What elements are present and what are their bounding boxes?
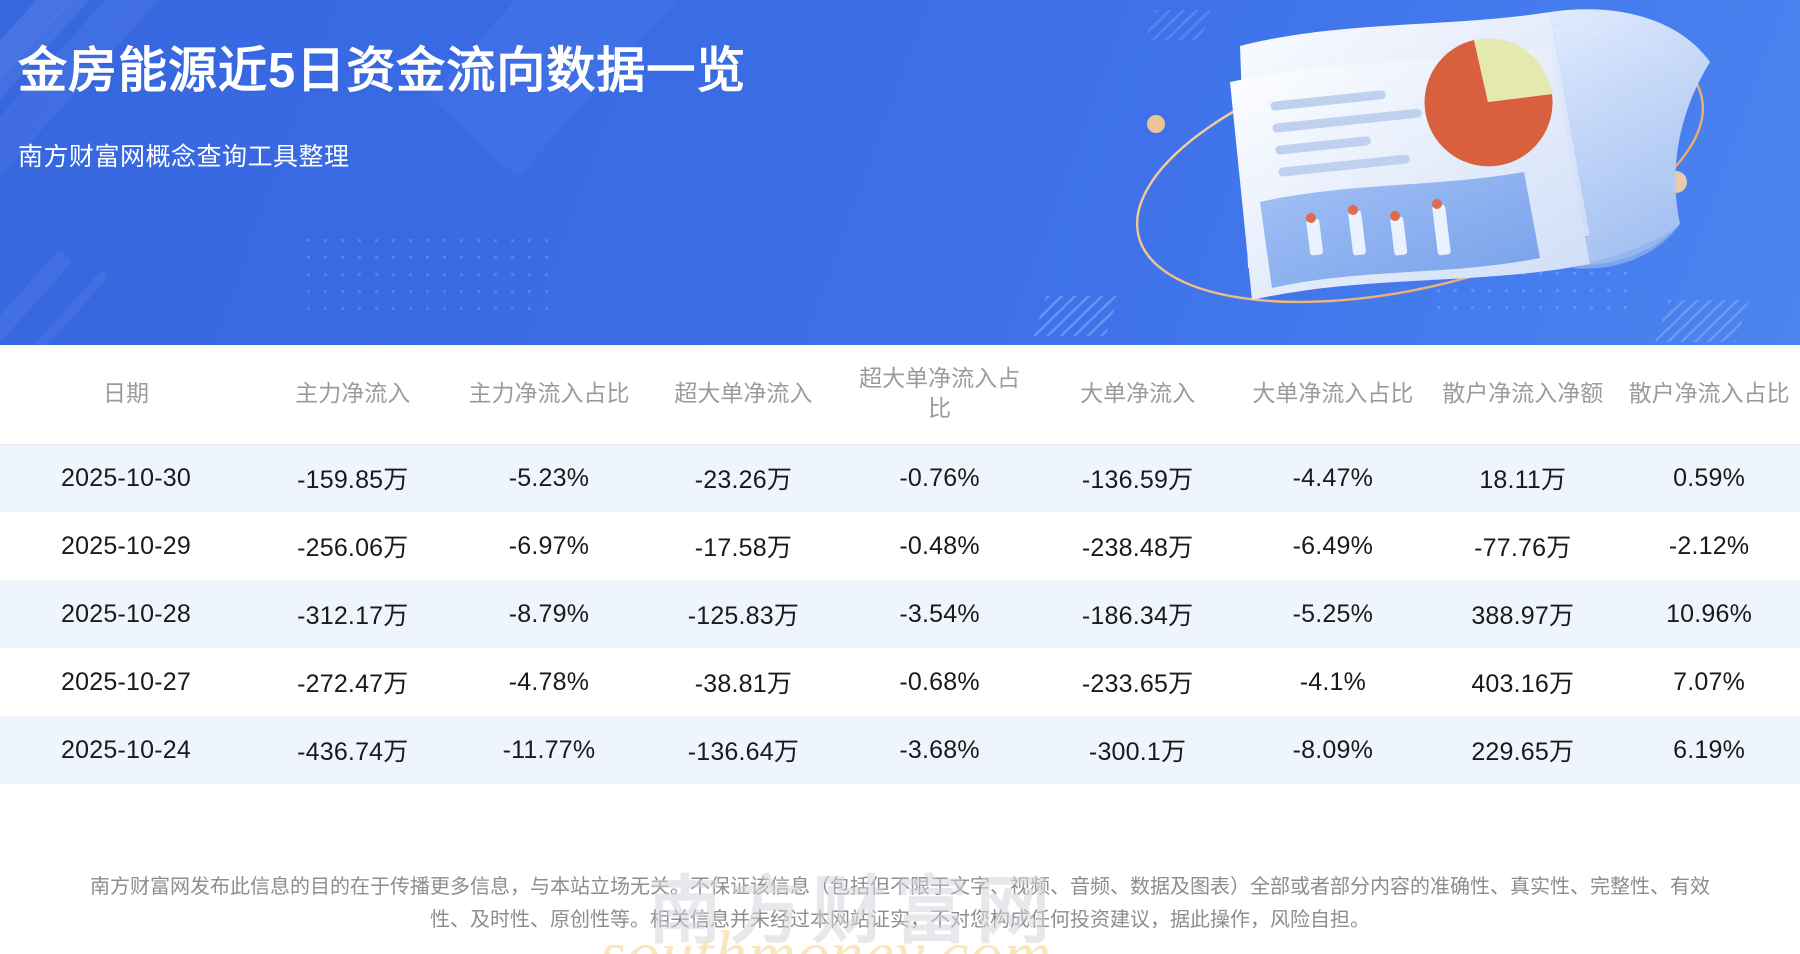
- cell-date: 2025-10-29: [0, 512, 252, 580]
- cell-retail-net-amount: 403.16万: [1427, 648, 1618, 716]
- cell-xl-net-ratio: -3.68%: [842, 716, 1036, 784]
- fund-flow-table-wrap: 南方财富网 southmoney.com 日期 主力净流入 主力净流入占比 超大…: [0, 345, 1800, 784]
- column-header-xl-net-inflow: 超大单净流入: [644, 345, 842, 444]
- cell-lg-net-inflow: -186.34万: [1037, 580, 1239, 648]
- table-header-row: 日期 主力净流入 主力净流入占比 超大单净流入 超大单净流入占比 大单净流入 大…: [0, 345, 1800, 444]
- cell-lg-net-inflow: -136.59万: [1037, 444, 1239, 512]
- cell-retail-net-amount: 388.97万: [1427, 580, 1618, 648]
- cell-xl-net-inflow: -23.26万: [644, 444, 842, 512]
- cell-xl-net-ratio: -0.76%: [842, 444, 1036, 512]
- cell-xl-net-ratio: -0.68%: [842, 648, 1036, 716]
- cell-lg-net-inflow: -300.1万: [1037, 716, 1239, 784]
- cell-retail-net-ratio: 0.59%: [1618, 444, 1800, 512]
- cell-main-net-inflow: -272.47万: [252, 648, 454, 716]
- column-header-retail-net-amount: 散户净流入净额: [1427, 345, 1618, 444]
- cell-xl-net-inflow: -17.58万: [644, 512, 842, 580]
- banner-text-block: 金房能源近5日资金流向数据一览 南方财富网概念查询工具整理: [18, 44, 746, 173]
- table-row: 2025-10-30 -159.85万 -5.23% -23.26万 -0.76…: [0, 444, 1800, 512]
- cell-main-net-ratio: -8.79%: [454, 580, 645, 648]
- cell-lg-net-ratio: -4.47%: [1238, 444, 1427, 512]
- cell-retail-net-ratio: 6.19%: [1618, 716, 1800, 784]
- fund-flow-table: 日期 主力净流入 主力净流入占比 超大单净流入 超大单净流入占比 大单净流入 大…: [0, 345, 1800, 784]
- column-header-date: 日期: [0, 345, 252, 444]
- cell-lg-net-ratio: -4.1%: [1238, 648, 1427, 716]
- report-chart-illustration: [1120, 6, 1740, 336]
- cell-date: 2025-10-24: [0, 716, 252, 784]
- cell-main-net-inflow: -256.06万: [252, 512, 454, 580]
- cell-lg-net-inflow: -233.65万: [1037, 648, 1239, 716]
- table-row: 2025-10-27 -272.47万 -4.78% -38.81万 -0.68…: [0, 648, 1800, 716]
- cell-date: 2025-10-28: [0, 580, 252, 648]
- cell-retail-net-ratio: 7.07%: [1618, 648, 1800, 716]
- table-header: 日期 主力净流入 主力净流入占比 超大单净流入 超大单净流入占比 大单净流入 大…: [0, 345, 1800, 444]
- table-row: 2025-10-24 -436.74万 -11.77% -136.64万 -3.…: [0, 716, 1800, 784]
- table-row: 2025-10-29 -256.06万 -6.97% -17.58万 -0.48…: [0, 512, 1800, 580]
- cell-main-net-inflow: -436.74万: [252, 716, 454, 784]
- cell-lg-net-ratio: -5.25%: [1238, 580, 1427, 648]
- cell-main-net-ratio: -11.77%: [454, 716, 645, 784]
- cell-retail-net-ratio: -2.12%: [1618, 512, 1800, 580]
- disclaimer-line-1: 南方财富网发布此信息的目的在于传播更多信息，与本站立场无关。不保证该信息（包括但…: [8, 871, 1792, 903]
- cell-retail-net-amount: -77.76万: [1427, 512, 1618, 580]
- cell-date: 2025-10-30: [0, 444, 252, 512]
- cell-main-net-inflow: -159.85万: [252, 444, 454, 512]
- page-title: 金房能源近5日资金流向数据一览: [18, 44, 746, 99]
- banner-hatch-decoration: [1034, 296, 1119, 336]
- cell-xl-net-inflow: -38.81万: [644, 648, 842, 716]
- cell-retail-net-ratio: 10.96%: [1618, 580, 1800, 648]
- cell-lg-net-ratio: -8.09%: [1238, 716, 1427, 784]
- cell-main-net-ratio: -4.78%: [454, 648, 645, 716]
- cell-retail-net-amount: 229.65万: [1427, 716, 1618, 784]
- table-row: 2025-10-28 -312.17万 -8.79% -125.83万 -3.5…: [0, 580, 1800, 648]
- column-header-lg-net-inflow: 大单净流入: [1037, 345, 1239, 444]
- cell-lg-net-inflow: -238.48万: [1037, 512, 1239, 580]
- cell-main-net-inflow: -312.17万: [252, 580, 454, 648]
- column-header-lg-net-ratio: 大单净流入占比: [1238, 345, 1427, 444]
- cell-xl-net-inflow: -125.83万: [644, 580, 842, 648]
- cell-lg-net-ratio: -6.49%: [1238, 512, 1427, 580]
- page-root: 金房能源近5日资金流向数据一览 南方财富网概念查询工具整理: [0, 0, 1800, 954]
- page-subtitle: 南方财富网概念查询工具整理: [18, 137, 746, 173]
- column-header-xl-net-ratio: 超大单净流入占比: [842, 345, 1036, 444]
- cell-main-net-ratio: -5.23%: [454, 444, 645, 512]
- disclaimer-line-2: 性、及时性、原创性等。相关信息并未经过本网站证实，不对您构成任何投资建议，据此操…: [8, 904, 1792, 936]
- banner-dot-grid-decoration: [300, 232, 560, 312]
- table-body: 2025-10-30 -159.85万 -5.23% -23.26万 -0.76…: [0, 444, 1800, 784]
- banner-streak-decoration: [0, 250, 73, 345]
- column-header-retail-net-ratio: 散户净流入占比: [1618, 345, 1800, 444]
- disclaimer-footer: 南方财富网发布此信息的目的在于传播更多信息，与本站立场无关。不保证该信息（包括但…: [0, 861, 1800, 954]
- cell-main-net-ratio: -6.97%: [454, 512, 645, 580]
- cell-xl-net-inflow: -136.64万: [644, 716, 842, 784]
- column-header-main-net-ratio: 主力净流入占比: [454, 345, 645, 444]
- page-banner: 金房能源近5日资金流向数据一览 南方财富网概念查询工具整理: [0, 0, 1800, 345]
- cell-xl-net-ratio: -0.48%: [842, 512, 1036, 580]
- cell-xl-net-ratio: -3.54%: [842, 580, 1036, 648]
- column-header-main-net-inflow: 主力净流入: [252, 345, 454, 444]
- cell-date: 2025-10-27: [0, 648, 252, 716]
- cell-retail-net-amount: 18.11万: [1427, 444, 1618, 512]
